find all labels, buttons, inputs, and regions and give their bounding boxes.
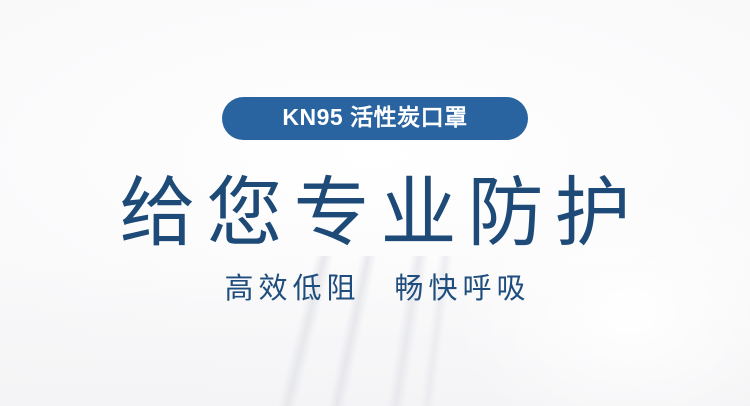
banner-content: KN95 活性炭口罩 给您专业防护 高效低阻 畅快呼吸	[0, 0, 750, 406]
subtitle: 高效低阻 畅快呼吸	[0, 270, 750, 308]
product-type-badge: KN95 活性炭口罩	[222, 97, 528, 140]
product-banner: KN95 活性炭口罩 给您专业防护 高效低阻 畅快呼吸	[0, 0, 750, 406]
headline: 给您专业防护	[0, 168, 750, 260]
product-type-badge-label: KN95 活性炭口罩	[282, 106, 467, 129]
